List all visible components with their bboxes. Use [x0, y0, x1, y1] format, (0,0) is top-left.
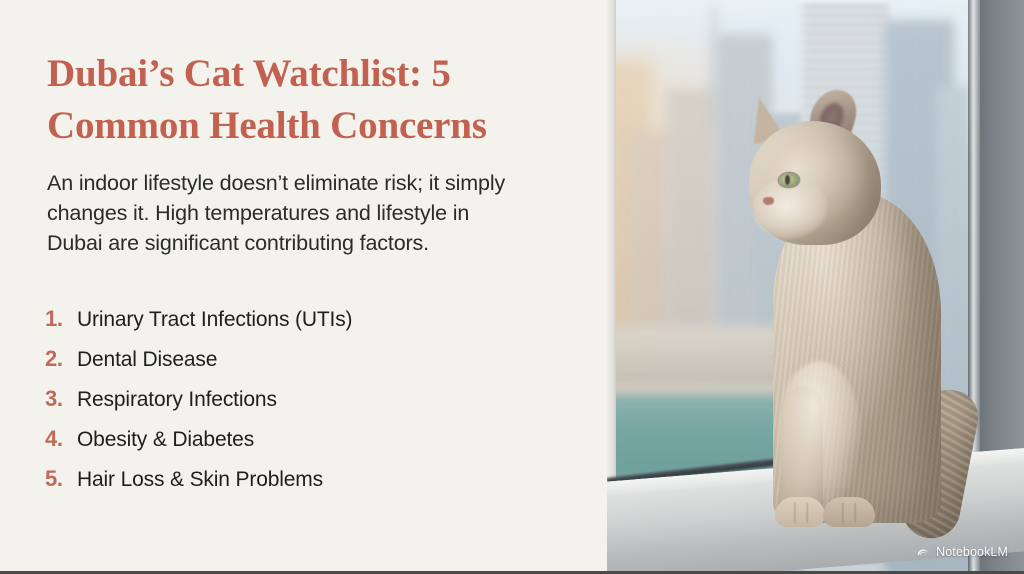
notebooklm-watermark: NotebookLM [916, 545, 1008, 559]
cat-nose [763, 197, 774, 205]
list-item-label: Respiratory Infections [77, 388, 565, 412]
list-item: 3. Respiratory Infections [45, 386, 565, 426]
list-item-number: 4. [45, 426, 77, 452]
list-item-number: 3. [45, 386, 77, 412]
list-item-number: 1. [45, 306, 77, 332]
list-item-number: 2. [45, 346, 77, 372]
list-item-label: Dental Disease [77, 348, 565, 372]
list-item-number: 5. [45, 466, 77, 492]
text-panel: Dubai’s Cat Watchlist: 5 Common Health C… [0, 0, 607, 571]
slide: Dubai’s Cat Watchlist: 5 Common Health C… [0, 0, 1024, 574]
photo-stage: NotebookLM [607, 0, 1024, 571]
cat-paw [823, 497, 875, 527]
health-concerns-list: 1. Urinary Tract Infections (UTIs) 2. De… [45, 306, 565, 506]
list-item: 4. Obesity & Diabetes [45, 426, 565, 466]
watermark-label: NotebookLM [936, 545, 1008, 559]
notebooklm-logo-icon [916, 545, 930, 559]
cat-chest [777, 361, 861, 511]
cat [725, 103, 975, 523]
list-item-label: Obesity & Diabetes [77, 428, 565, 452]
list-item: 1. Urinary Tract Infections (UTIs) [45, 306, 565, 346]
cat-eye [779, 173, 799, 187]
cat-toe-lines [783, 503, 817, 523]
cat-paw [775, 497, 825, 527]
cat-pupil [785, 175, 790, 185]
cat-window-photo: NotebookLM [607, 0, 1024, 571]
list-item: 5. Hair Loss & Skin Problems [45, 466, 565, 506]
list-item-label: Hair Loss & Skin Problems [77, 468, 565, 492]
cat-head [749, 121, 881, 245]
slide-subtitle: An indoor lifestyle doesn’t eliminate ri… [47, 168, 517, 258]
cat-muzzle [753, 179, 827, 239]
list-item: 2. Dental Disease [45, 346, 565, 386]
skyline-spire [711, 6, 717, 126]
page-title: Dubai’s Cat Watchlist: 5 Common Health C… [47, 48, 577, 152]
cat-toe-lines [831, 503, 867, 523]
list-item-label: Urinary Tract Infections (UTIs) [77, 308, 565, 332]
